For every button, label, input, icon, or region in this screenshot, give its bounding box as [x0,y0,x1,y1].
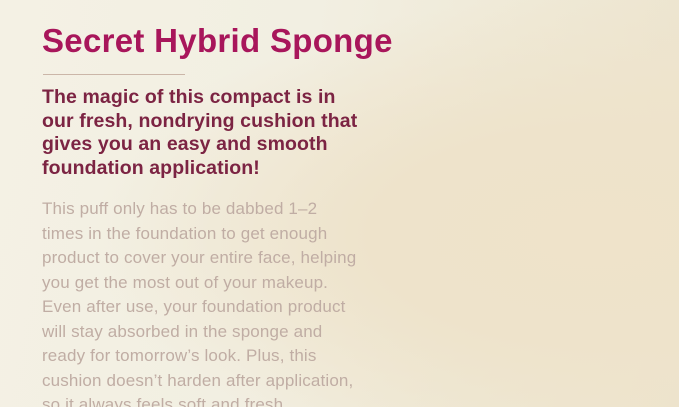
body-text: This puff only has to be dabbed 1–2 time… [42,197,362,407]
title-divider [43,74,185,75]
page-title: Secret Hybrid Sponge [42,22,372,60]
subtitle-text: The magic of this compact is in our fres… [42,86,362,180]
product-feature-banner: Secret Hybrid Sponge The magic of this c… [0,0,679,407]
text-column: Secret Hybrid Sponge The magic of this c… [42,22,372,407]
product-photo [360,0,679,407]
